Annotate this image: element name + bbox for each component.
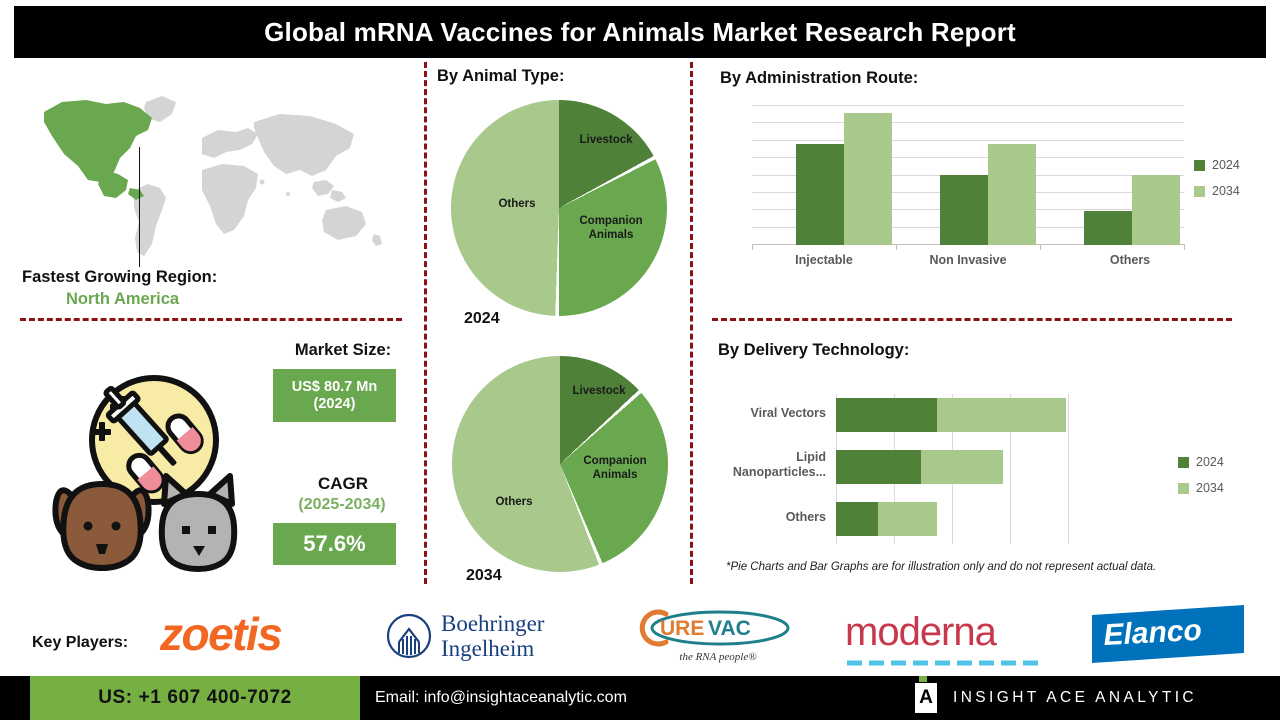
brand-logo: A INSIGHT ACE ANALYTIC: [915, 676, 1197, 720]
legend-swatch-2034: [1194, 186, 1205, 197]
legend-item-2024: 2024: [1194, 158, 1240, 172]
pie-2024-label-livestock: Livestock: [566, 133, 646, 147]
logo-elanco-text: Elanco: [1103, 614, 1203, 652]
hbar-row-lipid-nanoparticles: [836, 450, 1166, 484]
legend-item-delivery-2034: 2034: [1178, 481, 1224, 495]
pie-2034-label-others: Others: [481, 495, 547, 509]
legend-swatch-delivery-2024: [1178, 457, 1189, 468]
market-size-value: US$ 80.7 Mn: [292, 379, 377, 396]
pets-vaccine-illustration: [36, 358, 276, 580]
svg-text:VAC: VAC: [708, 617, 751, 640]
market-size-title: Market Size:: [278, 341, 408, 360]
fastest-growing-region-value: North America: [66, 290, 179, 309]
cagr-period: (2025-2034): [272, 496, 412, 514]
footer-phone[interactable]: US: +1 607 400-7072: [30, 676, 360, 720]
legend-item-delivery-2024: 2024: [1178, 455, 1224, 469]
logo-moderna: moderna: [845, 610, 1060, 664]
hbar-row-others: [836, 502, 1166, 536]
divider-horizontal-left: [20, 318, 402, 321]
legend-label-2034: 2034: [1212, 184, 1240, 198]
logo-elanco: Elanco: [1088, 603, 1248, 665]
logo-curevac-tagline: the RNA people®: [628, 651, 808, 663]
world-map: [26, 78, 396, 268]
key-players-label: Key Players:: [32, 634, 128, 652]
section-title-administration-route: By Administration Route:: [720, 69, 918, 88]
cagr-box: 57.6%: [273, 523, 396, 565]
divider-vertical-right: [690, 62, 693, 584]
footer-email[interactable]: Email: info@insightaceanalytic.com: [375, 676, 627, 720]
hbar-others-2024: [836, 502, 878, 536]
market-size-box: US$ 80.7 Mn (2024): [273, 369, 396, 422]
cagr-value: 57.6%: [303, 531, 365, 557]
legend-swatch-delivery-2034: [1178, 483, 1189, 494]
bar-category-injectable: Injectable: [774, 253, 874, 267]
bar-category-non-invasive: Non Invasive: [914, 253, 1022, 267]
administration-route-legend: 2024 2034: [1194, 158, 1240, 210]
bar-non-invasive-2024: [940, 175, 988, 245]
curevac-mark-icon: URE VAC: [628, 608, 798, 648]
logo-curevac: URE VAC the RNA people®: [628, 608, 808, 666]
delivery-technology-legend: 2024 2034: [1178, 455, 1224, 507]
map-pointer-line: [139, 147, 140, 267]
fastest-growing-region-label: Fastest Growing Region:: [22, 268, 217, 287]
logo-boehringer-line2: Ingelheim: [441, 636, 544, 661]
pie-2024-label-others: Others: [482, 197, 552, 211]
logo-boehringer-text: Boehringer Ingelheim: [441, 611, 544, 661]
bar-non-invasive-2034: [988, 144, 1036, 245]
pie-2034-year: 2034: [466, 567, 502, 585]
hbar-category-others: Others: [726, 510, 826, 525]
logo-boehringer-line1: Boehringer: [441, 611, 544, 636]
divider-horizontal-right: [712, 318, 1232, 321]
elanco-mark-icon: Elanco: [1088, 603, 1248, 665]
infographic-page: Global mRNA Vaccines for Animals Market …: [0, 0, 1280, 720]
boehringer-emblem-icon: [385, 612, 433, 660]
hbar-category-viral-vectors: Viral Vectors: [726, 406, 826, 421]
hbar-viral-vectors-2034: [937, 398, 1066, 432]
hbar-others-2034: [878, 502, 937, 536]
bar-others-2024: [1084, 211, 1132, 245]
bar-category-others: Others: [1080, 253, 1180, 267]
market-size-year: (2024): [314, 396, 356, 413]
pie-2024-label-companion: Companion Animals: [569, 214, 653, 242]
cagr-title: CAGR: [278, 474, 408, 494]
logo-boehringer-ingelheim: Boehringer Ingelheim: [385, 608, 595, 664]
pie-2034-label-companion: Companion Animals: [583, 454, 647, 482]
brand-mark-icon: A: [915, 683, 937, 713]
legend-label-delivery-2024: 2024: [1196, 455, 1224, 469]
header-bar: Global mRNA Vaccines for Animals Market …: [14, 6, 1266, 58]
bar-injectable-2034: [844, 113, 892, 245]
brand-name: INSIGHT ACE ANALYTIC: [953, 689, 1197, 707]
hbar-lipid-nanoparticles-2034: [921, 450, 1003, 484]
section-title-animal-type: By Animal Type:: [437, 67, 564, 86]
hbar-lipid-nanoparticles-2024: [836, 450, 921, 484]
administration-route-chart: Injectable Non Invasive Others: [752, 105, 1184, 245]
pie-2024-year: 2024: [464, 310, 500, 328]
hbar-viral-vectors-2024: [836, 398, 937, 432]
section-title-delivery-technology: By Delivery Technology:: [718, 341, 909, 360]
legend-item-2034: 2034: [1194, 184, 1240, 198]
pie-2034-label-livestock: Livestock: [559, 384, 639, 398]
hbar-row-viral-vectors: [836, 398, 1166, 432]
logo-moderna-text: moderna: [845, 610, 1060, 655]
hbar-category-lipid-nanoparticles: Lipid Nanoparticles...: [721, 450, 826, 480]
legend-label-2024: 2024: [1212, 158, 1240, 172]
page-title: Global mRNA Vaccines for Animals Market …: [14, 6, 1266, 58]
chart-disclaimer-note: *Pie Charts and Bar Graphs are for illus…: [726, 561, 1156, 573]
delivery-technology-chart: Viral Vectors Lipid Nanoparticles... Oth…: [836, 394, 1166, 544]
legend-swatch-2024: [1194, 160, 1205, 171]
bar-others-2034: [1132, 175, 1180, 245]
divider-vertical-left: [424, 62, 427, 584]
logo-zoetis-text: zoetis: [160, 607, 340, 661]
moderna-dashes-icon: [845, 658, 1050, 668]
svg-text:URE: URE: [660, 617, 704, 640]
bar-injectable-2024: [796, 144, 844, 245]
logo-zoetis: zoetis: [160, 607, 340, 663]
legend-label-delivery-2034: 2034: [1196, 481, 1224, 495]
